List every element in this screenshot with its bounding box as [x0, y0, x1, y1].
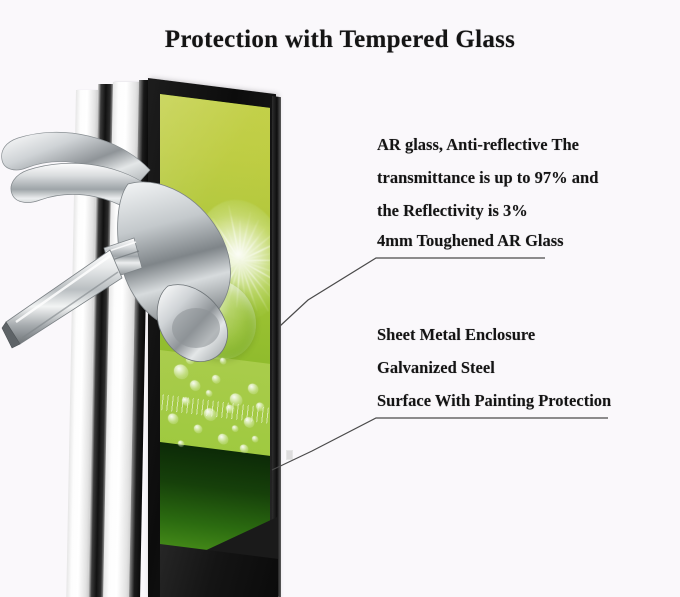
hammer-handle [6, 250, 122, 344]
callout-line: Galvanized Steel [377, 351, 677, 384]
callout-enclosure-spec: Sheet Metal Enclosure Galvanized Steel S… [377, 318, 677, 417]
callout-line: AR glass, Anti-reflective The [377, 128, 677, 161]
chrome-claw-hammer [0, 72, 330, 597]
callout-glass-spec: AR glass, Anti-reflective The transmitta… [377, 128, 677, 254]
callout-line: 4mm Toughened AR Glass [377, 227, 677, 254]
callout-line: the Reflectivity is 3% [377, 194, 677, 227]
page-title: Protection with Tempered Glass [0, 26, 680, 54]
hammer-face-shadow [172, 308, 220, 348]
callout-line: Sheet Metal Enclosure [377, 318, 677, 351]
callout-line: transmittance is up to 97% and [377, 161, 677, 194]
slide-canvas: Protection with Tempered Glass [0, 0, 680, 597]
product-illustration [0, 72, 330, 597]
callout-line: Surface With Painting Protection [377, 384, 677, 417]
